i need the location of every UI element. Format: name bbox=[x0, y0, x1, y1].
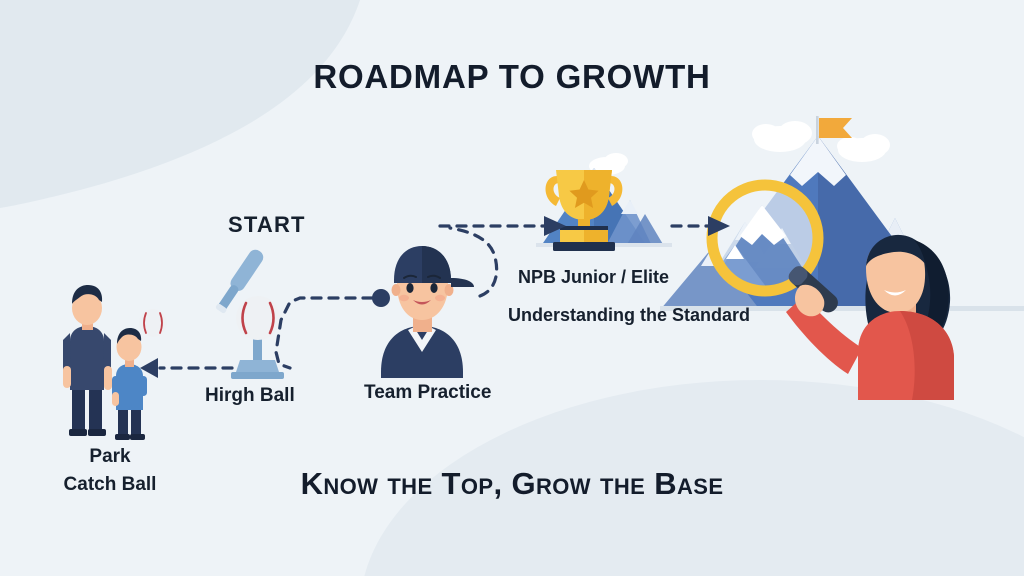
adult-figure bbox=[63, 285, 112, 436]
cloud-icon bbox=[752, 121, 812, 152]
trophy-mountain-icon bbox=[536, 153, 672, 251]
label-understanding-the-standard: Understanding the Standard bbox=[508, 305, 750, 326]
flow-node-dot bbox=[372, 289, 390, 307]
label-team-practice: Team Practice bbox=[364, 382, 491, 404]
cloud-icon bbox=[837, 134, 890, 162]
baseball-bat-tee-icon bbox=[213, 247, 284, 379]
label-park: Park bbox=[30, 446, 190, 468]
start-label: START bbox=[228, 212, 306, 238]
arrow-path-player-to-highball bbox=[276, 298, 372, 368]
footer-tagline: Know the Top, Grow the Base bbox=[0, 466, 1024, 502]
baseball-icon bbox=[139, 309, 167, 337]
child-figure bbox=[112, 328, 147, 440]
magnifier-mountain-woman-icon bbox=[660, 116, 1024, 400]
label-npb-junior-elite: NPB Junior / Elite bbox=[518, 267, 669, 288]
baseball-icon bbox=[236, 296, 280, 340]
page-title: ROADMAP TO GROWTH bbox=[0, 58, 1024, 96]
label-high-ball: Hirgh Ball bbox=[205, 385, 295, 407]
infographic-canvas: ROADMAP TO GROWTH START Park Catch Ball … bbox=[0, 0, 1024, 576]
baseball-player-icon bbox=[381, 246, 474, 378]
